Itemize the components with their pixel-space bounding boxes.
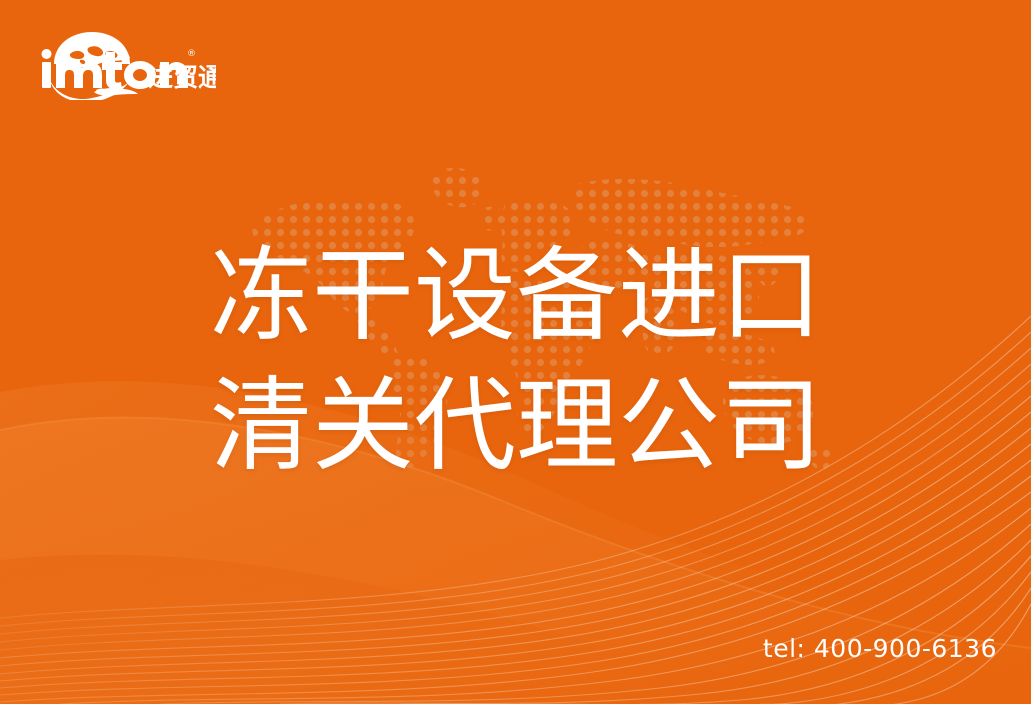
page-title: 冻干设备进口 清关代理公司 bbox=[210, 232, 822, 492]
brand-logo[interactable]: 进贸通 ® bbox=[36, 28, 216, 100]
headline-line-1: 冻干设备进口 bbox=[210, 232, 822, 362]
headline-line-2: 清关代理公司 bbox=[210, 362, 822, 492]
trademark-icon: ® bbox=[187, 49, 196, 59]
promo-banner: 进贸通 ® 冻干设备进口 清关代理公司 tel: 400-900-6136 bbox=[0, 0, 1031, 704]
logo-chinese-text: 进贸通 bbox=[148, 63, 216, 92]
contact-telephone[interactable]: tel: 400-900-6136 bbox=[763, 634, 997, 663]
globe-icon bbox=[54, 32, 130, 67]
